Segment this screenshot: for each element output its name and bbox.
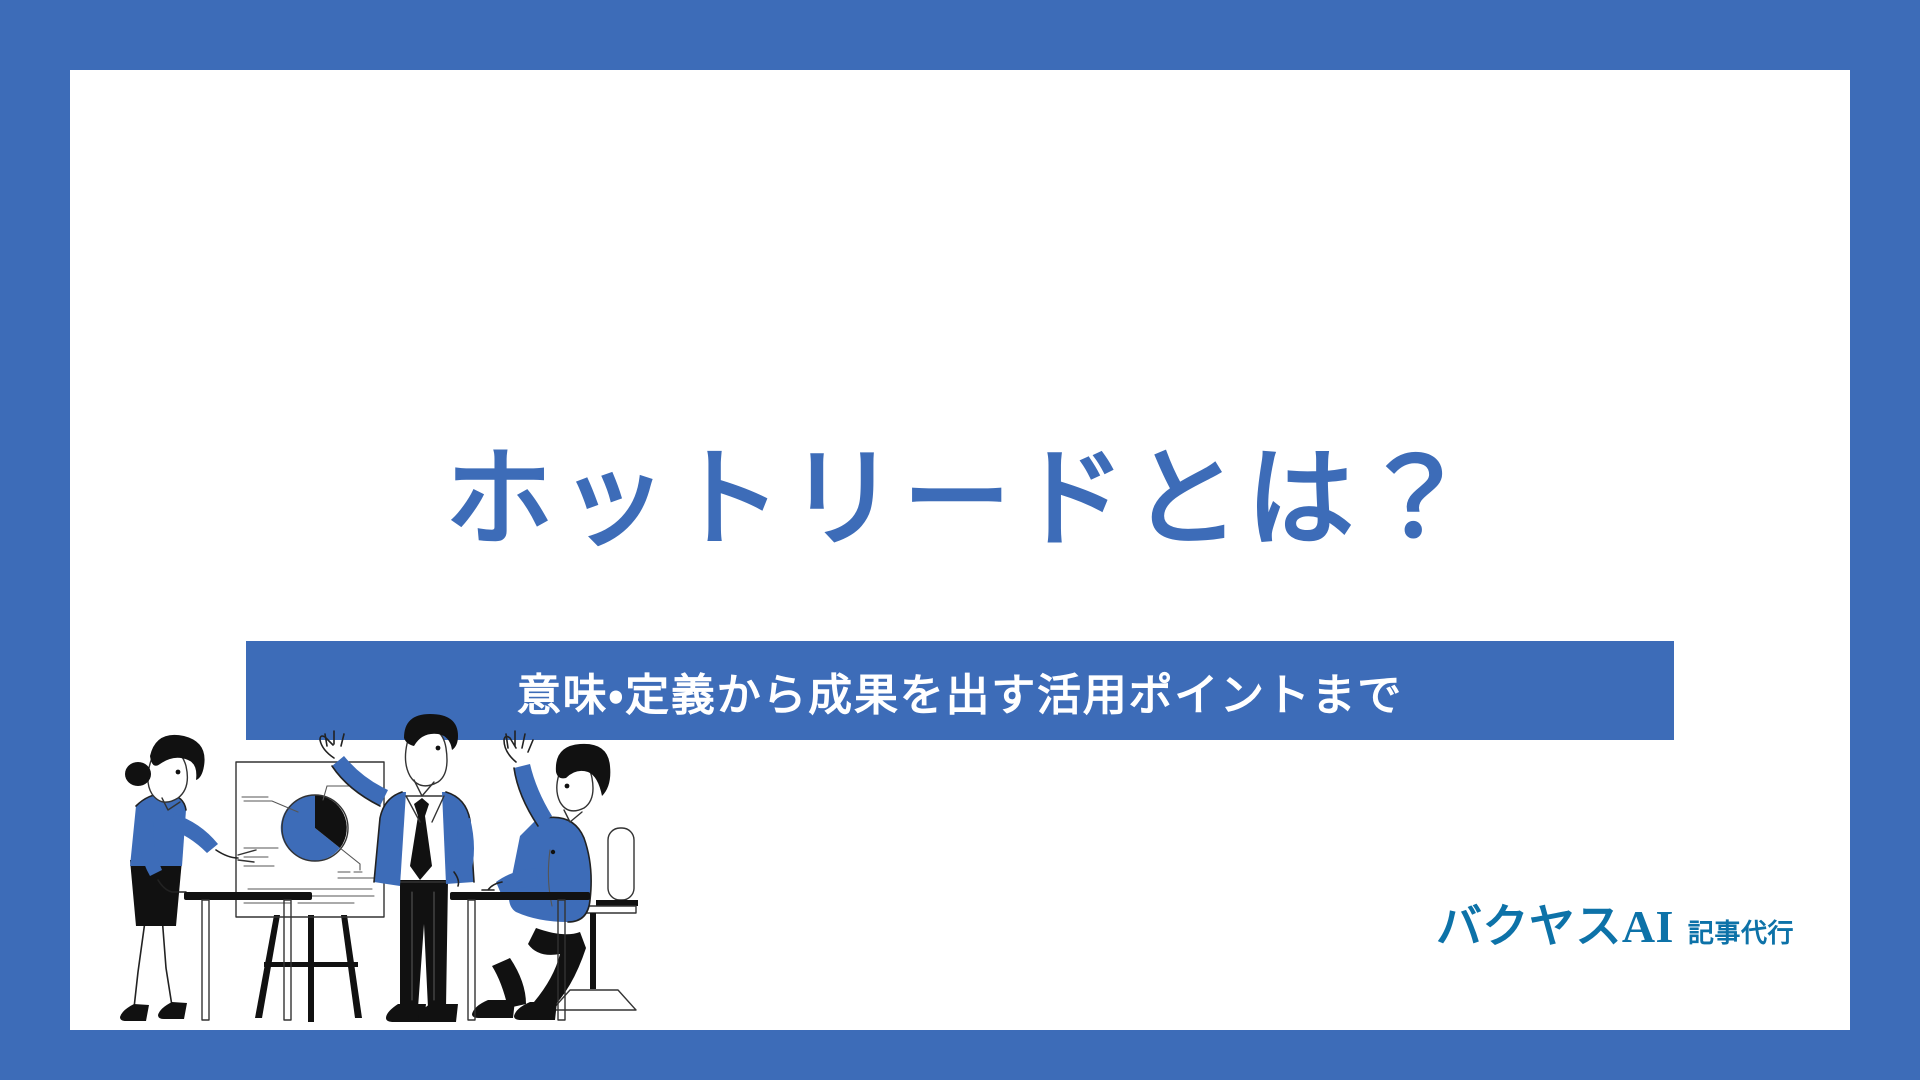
person-seated bbox=[472, 731, 638, 1020]
page-title: ホットリードとは？ bbox=[70, 440, 1850, 559]
brand-logo-main-text: バクヤスAI bbox=[1436, 890, 1674, 956]
standing-desk-left bbox=[184, 892, 312, 1020]
slide-root: ホットリードとは？ 意味・定義から成果を出す活用ポイントまで バクヤスAI 記事… bbox=[0, 0, 1920, 1080]
brand-logo-sub-text: 記事代行 bbox=[1688, 913, 1794, 950]
slide-white-card: ホットリードとは？ 意味・定義から成果を出す活用ポイントまで バクヤスAI 記事… bbox=[70, 70, 1850, 1030]
pie-chart bbox=[281, 795, 348, 861]
brand-logo: バクヤスAI 記事代行 bbox=[1436, 890, 1794, 956]
man-standing bbox=[320, 714, 474, 1022]
illustration-svg: .ink { fill:#111111; } .blu { fill:#3d6c… bbox=[112, 700, 772, 1030]
business-team-illustration: .ink { fill:#111111; } .blu { fill:#3d6c… bbox=[112, 700, 772, 1030]
